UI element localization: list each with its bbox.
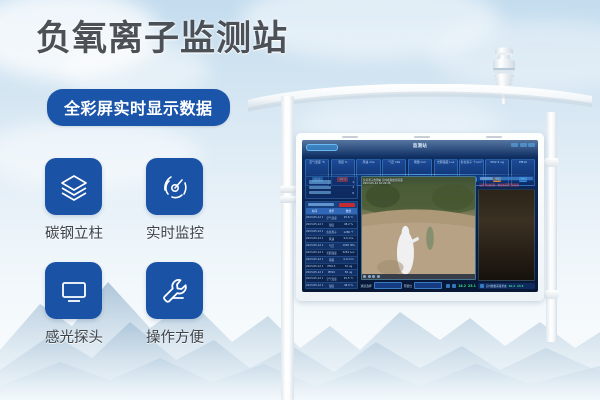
- summary-stat-value: 1: [352, 180, 354, 184]
- summary-stat-value: 0: [352, 191, 354, 195]
- layers-icon: [45, 158, 102, 215]
- kpi-label: 空气温度 ℃: [306, 161, 328, 165]
- table-row[interactable]: 2023-05-12 10:24空气温度25.6 ℃: [306, 214, 357, 221]
- table-cell: PM10: [323, 270, 340, 275]
- summary-stat-row: 1: [309, 180, 354, 184]
- kpi-label: 雨量 mm: [409, 161, 431, 165]
- nav-button[interactable]: [446, 284, 450, 288]
- screen-support-post: [546, 112, 557, 342]
- wrench-icon: [146, 262, 203, 319]
- preset-label: 预置位: [404, 284, 412, 288]
- table-cell: 48.0 %: [340, 283, 357, 289]
- table-row[interactable]: 2023-05-12 10:22PM1056 ug: [306, 269, 357, 275]
- table-cell: 0.6 m/s: [340, 236, 357, 242]
- subtitle-badge: 全彩屏实时显示数据: [47, 89, 230, 126]
- product-banner: 负氧离子监测站 全彩屏实时显示数据 碳钢立柱: [0, 0, 600, 400]
- steel-pole: [281, 96, 294, 400]
- feature-item[interactable]: 实时监控: [146, 158, 203, 243]
- dashboard-screen[interactable]: 监测站 空气温度 ℃25.6湿度 %48.2风速 m/s0.6气压 hPa100…: [302, 140, 538, 292]
- toolbar-button[interactable]: [520, 143, 527, 147]
- table-cell: 2023-05-12 10:21: [306, 276, 323, 282]
- table-cell: 2023-05-12 10:21: [306, 283, 323, 289]
- status-icon: [480, 284, 484, 288]
- table-cell: 气压: [323, 243, 340, 249]
- table-cell: 2023-05-12 10:24: [306, 229, 323, 235]
- video-overlay-line2: 2023-05-12 10:24:36: [363, 182, 403, 186]
- kpi-label: 风速 m/s: [357, 161, 379, 165]
- summary-stat-label: [309, 180, 331, 183]
- snapshot-icon[interactable]: [372, 275, 375, 278]
- radar-icon: [146, 158, 203, 215]
- right-column: 设备离线报警 数据超限报警提醒 实时数据采集状态 10.2 23.5: [478, 176, 535, 289]
- kpi-label: 负氧离子 个/cm³: [460, 161, 482, 165]
- table-row[interactable]: 2023-05-12 10:23风速0.6 m/s: [306, 235, 357, 242]
- summary-stat-value: 1: [352, 185, 354, 189]
- table-cell: 2023-05-12 10:22: [306, 270, 323, 275]
- canopy-arch: [246, 84, 594, 124]
- table-row[interactable]: 2023-05-12 10:22雨量0.0 mm: [306, 256, 357, 263]
- table-cell: PM2.5: [323, 264, 340, 269]
- toolbar-button[interactable]: [511, 143, 518, 147]
- feature-item[interactable]: 碳钢立柱: [45, 158, 102, 243]
- table-cell: 2023-05-12 10:23: [306, 236, 323, 242]
- alert-tab[interactable]: [480, 177, 493, 180]
- alert-search-field[interactable]: [495, 177, 533, 180]
- table-row[interactable]: 2023-05-12 10:23气压1002 hPa: [306, 242, 357, 249]
- pole-band: [280, 196, 296, 203]
- table-cell: 48.2 %: [340, 222, 357, 228]
- table-cell: 风速: [323, 236, 340, 242]
- kpi-label: 光照强度 Lux: [435, 161, 457, 165]
- kpi-label: 湿度 %: [332, 161, 354, 165]
- summary-stat-label: [309, 186, 331, 189]
- toolbar-button[interactable]: [528, 143, 535, 147]
- feature-item[interactable]: 感光探头: [45, 262, 102, 347]
- table-cell: 2023-05-12 10:22: [306, 257, 323, 263]
- screen-logo-tag: [306, 144, 338, 151]
- feature-label: 碳钢立柱: [45, 222, 102, 243]
- video-control-bar[interactable]: 通道选择 预置位 18.2 25.1: [361, 282, 476, 289]
- bezel-mark: [414, 136, 430, 138]
- table-column-header: 类型: [323, 208, 340, 214]
- table-cell: 32 ug: [340, 264, 357, 269]
- kpi-label: PM10: [512, 161, 534, 165]
- divider: [305, 174, 535, 175]
- table-column-header: 时间: [306, 208, 323, 214]
- table-cell: 56 ug: [340, 270, 357, 275]
- summary-stats: 110: [305, 176, 358, 199]
- alert-button[interactable]: [339, 203, 355, 207]
- pole-band: [280, 186, 296, 193]
- table-search-field[interactable]: [308, 203, 334, 206]
- table-row[interactable]: 2023-05-12 10:24负氧离子1286 个: [306, 228, 357, 235]
- feature-label: 感光探头: [45, 326, 102, 347]
- video-feed[interactable]: 负氧离子监测站 实时视频监控画面 2023-05-12 10:24:36: [361, 176, 476, 280]
- table-cell: 湿度: [323, 283, 340, 289]
- status-bar: 实时数据采集状态 10.2 23.5: [478, 283, 535, 289]
- alert-panel-header[interactable]: [478, 176, 535, 181]
- fullscreen-icon[interactable]: [377, 275, 380, 278]
- status-label-1: 实时数据采集状态: [486, 284, 507, 288]
- video-overlay: 负氧离子监测站 实时视频监控画面 2023-05-12 10:24:36: [363, 179, 403, 187]
- left-column: 110 时间类型数值 2023-05-12 10:24空气温度25.6 ℃202…: [305, 176, 358, 289]
- table-cell: 湿度: [323, 222, 340, 228]
- summary-stat-row: 1: [309, 185, 354, 189]
- table-column-header: 数值: [340, 208, 357, 214]
- table-cell: 2023-05-12 10:24: [306, 222, 323, 228]
- table-body: 2023-05-12 10:24空气温度25.6 ℃2023-05-12 10:…: [306, 214, 357, 289]
- table-cell: 25.6 ℃: [340, 215, 357, 221]
- table-header-row: 时间类型数值: [306, 208, 357, 214]
- display-panel: 监测站 空气温度 ℃25.6湿度 %48.2风速 m/s0.6气压 hPa100…: [296, 133, 544, 301]
- summary-stat-label: [309, 191, 331, 194]
- feature-label: 实时监控: [146, 222, 203, 243]
- play-icon[interactable]: [363, 275, 366, 278]
- video-frame: [362, 177, 475, 279]
- table-row[interactable]: 2023-05-12 10:21湿度48.0 %: [306, 282, 357, 289]
- table-cell: 雨量: [323, 257, 340, 263]
- channel-select[interactable]: [374, 282, 402, 289]
- feature-item[interactable]: 操作方便: [146, 262, 203, 347]
- alert-item: 设备离线报警: [479, 183, 495, 187]
- table-cell: 空气温度: [323, 276, 340, 282]
- page-title: 负氧离子监测站: [36, 22, 288, 57]
- video-reading-2: 25.1: [468, 284, 476, 288]
- table-row[interactable]: 2023-05-12 10:21空气温度25.5 ℃: [306, 275, 357, 282]
- alert-list: 设备离线报警 数据超限报警提醒: [478, 183, 535, 187]
- bezel-mark: [486, 136, 502, 138]
- screen-clamp: [544, 158, 559, 167]
- status-value-2: 23.5: [517, 285, 523, 288]
- alert-item: 数据超限报警提醒: [497, 183, 519, 187]
- table-cell: 2023-05-12 10:24: [306, 215, 323, 221]
- screen-clamp: [544, 290, 559, 299]
- table-row[interactable]: 2023-05-12 10:24湿度48.2 %: [306, 221, 357, 228]
- status-value-1: 10.2: [509, 285, 515, 288]
- table-cell: 2023-05-12 10:23: [306, 243, 323, 249]
- feature-grid: 碳钢立柱 实时监控: [45, 158, 235, 366]
- preset-select[interactable]: [414, 282, 442, 289]
- video-reading-1: 18.2: [458, 284, 466, 288]
- table-row[interactable]: 2023-05-12 10:22PM2.532 ug: [306, 263, 357, 269]
- thumbnail-image: [478, 189, 535, 281]
- nav-button[interactable]: [452, 284, 456, 288]
- summary-stat-row: 0: [309, 191, 354, 195]
- table-cell: 1002 hPa: [340, 243, 357, 249]
- dashboard-body: 110 时间类型数值 2023-05-12 10:24空气温度25.6 ℃202…: [305, 176, 535, 289]
- video-controls[interactable]: [362, 274, 475, 279]
- table-cell: 0.0 mm: [340, 257, 357, 263]
- bezel-mark: [342, 136, 358, 138]
- table-cell: 1286 个: [340, 229, 357, 235]
- table-cell: 2023-05-12 10:22: [306, 264, 323, 269]
- table-row[interactable]: 2023-05-12 10:23光照强度3254 Lux: [306, 249, 357, 256]
- feature-label: 操作方便: [146, 326, 203, 347]
- channel-label: 通道选择: [361, 284, 372, 288]
- kpi-label: PM2.5 ug: [486, 161, 508, 165]
- center-column: 负氧离子监测站 实时视频监控画面 2023-05-12 10:24:36 通道选…: [361, 176, 476, 289]
- pause-icon[interactable]: [368, 275, 371, 278]
- data-table[interactable]: 时间类型数值 2023-05-12 10:24空气温度25.6 ℃2023-05…: [305, 201, 358, 289]
- table-cell: 空气温度: [323, 215, 340, 221]
- table-cell: 25.5 ℃: [340, 276, 357, 282]
- table-cell: 3254 Lux: [340, 250, 357, 256]
- table-cell: 2023-05-12 10:23: [306, 250, 323, 256]
- monitor-icon: [45, 262, 102, 319]
- table-cell: 光照强度: [323, 250, 340, 256]
- kpi-label: 气压 hPa: [383, 161, 405, 165]
- table-cell: 负氧离子: [323, 229, 340, 235]
- screen-toolbar[interactable]: [511, 143, 535, 147]
